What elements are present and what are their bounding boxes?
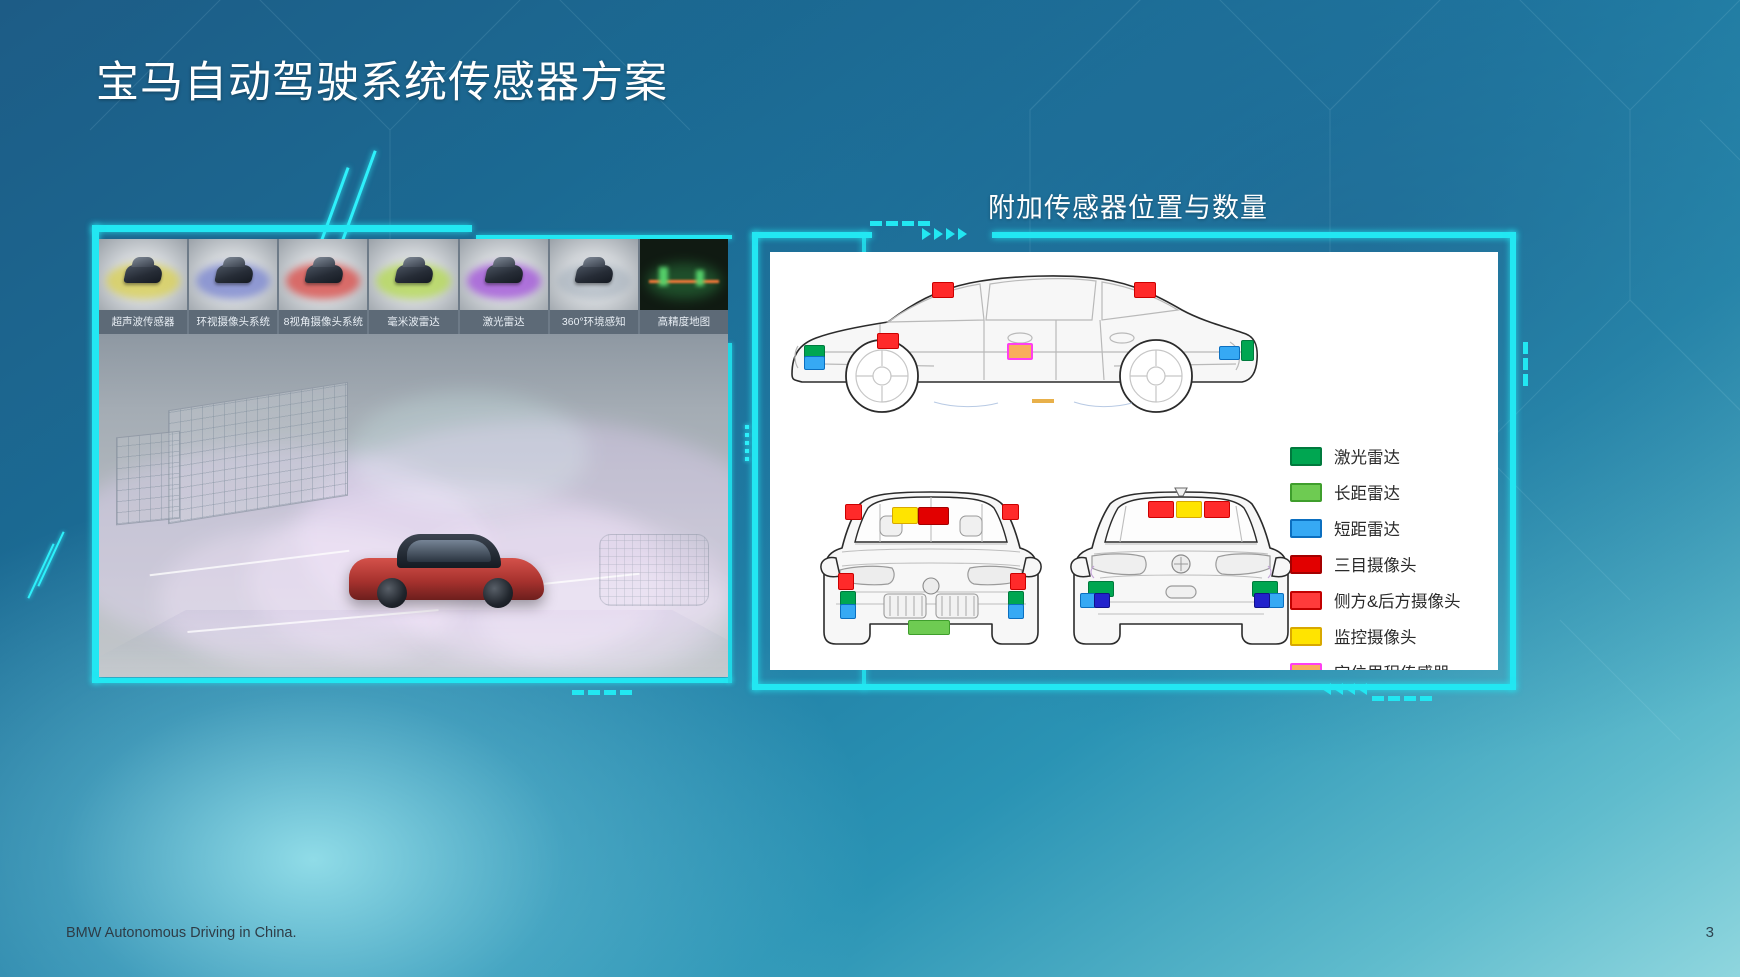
decorative-dot-column	[745, 425, 749, 461]
decorative-vertical-dash-group	[1523, 342, 1528, 386]
marker-rear-camera	[1204, 501, 1230, 518]
legend-item-long-range-radar: 长距雷达	[1290, 480, 1461, 504]
legend-swatch-side-rear-camera	[1290, 591, 1322, 610]
legend-label: 监控摄像头	[1334, 624, 1417, 648]
car-rear-view	[1070, 474, 1292, 654]
marker-side-camera	[1010, 573, 1026, 590]
decorative-dash-group	[870, 221, 930, 226]
marker-side-camera	[838, 573, 854, 590]
wireframe-truck	[116, 396, 346, 546]
slide-title: 宝马自动驾驶系统传感器方案	[96, 48, 668, 110]
legend-item-odometry-sensor: 定位里程传感器	[1290, 660, 1461, 670]
panel-frame-left	[92, 225, 99, 683]
thumbnail-strip: 超声波传感器 环视摄像头系统 8视角摄像头系统	[99, 239, 728, 334]
marker-side-camera	[932, 282, 954, 298]
legend-label: 长距雷达	[1334, 480, 1400, 504]
thumbnail-label: 激光雷达	[460, 310, 548, 334]
thumbnail-item[interactable]: 高精度地图	[640, 239, 728, 334]
panel-frame-top-right	[992, 232, 1516, 238]
thumbnail-item[interactable]: 超声波传感器	[99, 239, 189, 334]
diagram-canvas: 激光雷达 长距雷达 短距雷达 三目摄像头 侧方&后方摄像头	[770, 252, 1498, 670]
page-number: 3	[1706, 924, 1714, 941]
panel-frame-right	[1510, 232, 1516, 690]
marker-short-range-radar	[1008, 604, 1024, 619]
marker-side-camera	[1002, 504, 1019, 520]
thumbnail-item[interactable]: 360°环境感知	[550, 239, 640, 334]
car-side-view	[784, 262, 1264, 414]
legend-swatch-monitoring-camera	[1290, 627, 1322, 646]
legend-label: 侧方&后方摄像头	[1334, 588, 1461, 612]
arrow-group-right	[922, 228, 967, 240]
thumbnail-image	[640, 239, 728, 310]
marker-short-range-radar	[1219, 346, 1240, 360]
legend-item-lidar: 激光雷达	[1290, 444, 1461, 468]
thumbnail-item[interactable]: 环视摄像头系统	[189, 239, 279, 334]
thumbnail-label: 超声波传感器	[99, 310, 187, 334]
footer-text: BMW Autonomous Driving in China.	[66, 925, 297, 941]
panel-frame-right	[728, 343, 732, 683]
presentation-slide: 宝马自动驾驶系统传感器方案 附加传感器位置与数量	[0, 0, 1740, 977]
marker-short-range-radar	[1254, 593, 1270, 608]
thumbnail-item[interactable]: 激光雷达	[460, 239, 550, 334]
hero-sensor-scene	[99, 334, 728, 677]
panel-frame-bottom	[752, 684, 1516, 690]
decorative-dash-group	[572, 690, 632, 695]
left-media-panel: 超声波传感器 环视摄像头系统 8视角摄像头系统	[92, 225, 732, 683]
thumbnail-image	[369, 239, 457, 310]
legend-label: 定位里程传感器	[1334, 660, 1450, 670]
marker-side-camera	[1134, 282, 1156, 298]
right-panel-heading: 附加传感器位置与数量	[988, 186, 1268, 225]
panel-frame-left	[752, 232, 758, 690]
thumbnail-item[interactable]: 毫米波雷达	[369, 239, 459, 334]
marker-lidar	[1241, 340, 1254, 361]
radar-field-lobe	[349, 392, 589, 512]
thumbnail-image	[189, 239, 277, 310]
legend-label: 激光雷达	[1334, 444, 1400, 468]
decorative-diagonal-small	[37, 531, 64, 586]
thumbnail-label: 毫米波雷达	[369, 310, 457, 334]
marker-monitoring-camera	[892, 507, 918, 524]
ego-vehicle	[349, 532, 544, 608]
decorative-diagonal-small	[27, 543, 54, 598]
marker-odometry-sensor	[1007, 343, 1033, 360]
legend-item-monitoring-camera: 监控摄像头	[1290, 624, 1461, 648]
marker-side-camera	[845, 504, 862, 520]
legend-label: 三目摄像头	[1334, 552, 1417, 576]
legend-item-trifocal-camera: 三目摄像头	[1290, 552, 1461, 576]
panel-frame-top	[92, 225, 472, 232]
sensor-layout-panel: 激光雷达 长距雷达 短距雷达 三目摄像头 侧方&后方摄像头	[752, 232, 1516, 690]
marker-short-range-radar	[1268, 593, 1284, 608]
thumbnail-image	[460, 239, 548, 310]
panel-frame-bottom	[92, 678, 732, 683]
legend-swatch-trifocal-camera	[1290, 555, 1322, 574]
sensor-legend: 激光雷达 长距雷达 短距雷达 三目摄像头 侧方&后方摄像头	[1290, 444, 1461, 670]
thumbnail-image	[550, 239, 638, 310]
thumbnail-label: 高精度地图	[640, 310, 728, 334]
decorative-dash-group	[1372, 696, 1432, 701]
thumbnail-label: 环视摄像头系统	[189, 310, 277, 334]
marker-trifocal-camera	[918, 507, 949, 525]
thumbnail-image	[279, 239, 367, 310]
car-front-view	[820, 474, 1042, 654]
legend-item-short-range-radar: 短距雷达	[1290, 516, 1461, 540]
legend-label: 短距雷达	[1334, 516, 1400, 540]
legend-swatch-odometry-sensor	[1290, 663, 1322, 671]
sensor-montage-image: 超声波传感器 环视摄像头系统 8视角摄像头系统	[99, 239, 728, 677]
marker-monitoring-camera	[1176, 501, 1202, 518]
thumbnail-item[interactable]: 8视角摄像头系统	[279, 239, 369, 334]
legend-swatch-long-range-radar	[1290, 483, 1322, 502]
panel-frame-top-left	[752, 232, 872, 238]
marker-long-range-radar	[908, 620, 950, 635]
legend-swatch-lidar	[1290, 447, 1322, 466]
arrow-group-left	[1322, 683, 1367, 695]
thumbnail-label: 8视角摄像头系统	[279, 310, 367, 334]
wireframe-ghost-car	[599, 534, 709, 606]
marker-short-range-radar	[1094, 593, 1110, 608]
marker-short-range-radar	[840, 604, 856, 619]
marker-side-camera	[877, 333, 899, 349]
thumbnail-label: 360°环境感知	[550, 310, 638, 334]
thumbnail-image	[99, 239, 187, 310]
legend-item-side-rear-camera: 侧方&后方摄像头	[1290, 588, 1461, 612]
marker-rear-camera	[1148, 501, 1174, 518]
marker-short-range-radar	[804, 356, 825, 370]
legend-swatch-short-range-radar	[1290, 519, 1322, 538]
